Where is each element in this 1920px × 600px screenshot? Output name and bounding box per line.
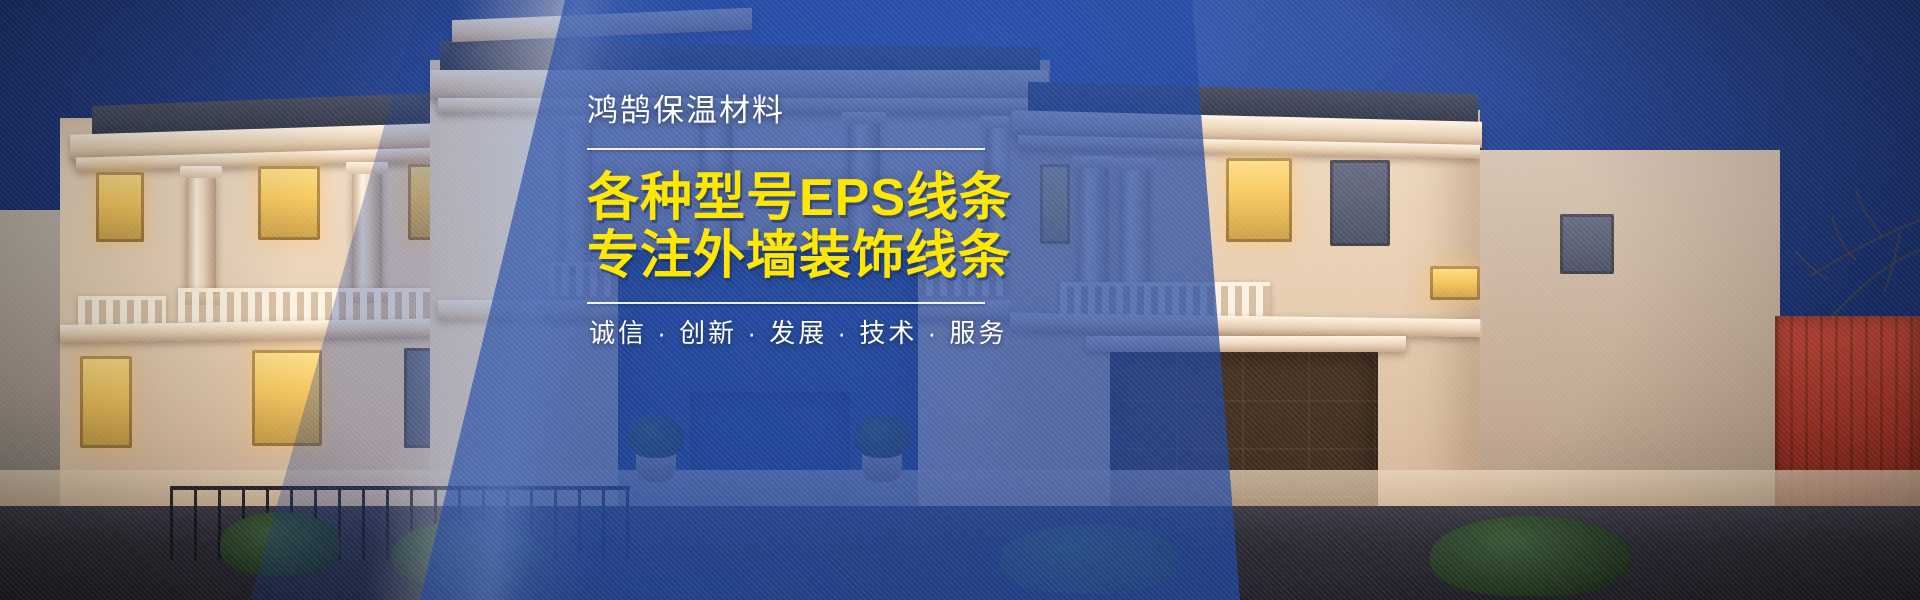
window-lit [258,166,320,240]
promo-banner: 鸿鹄保温材料 各种型号EPS线条 专注外墙装饰线条 诚信 · 创新 · 发展 ·… [0,0,1920,600]
window-lit [252,350,322,446]
shrub [392,520,542,588]
window-lit [80,356,132,448]
divider-top [587,148,985,150]
shrub [1430,516,1630,596]
window-lit [1226,158,1292,242]
column [352,172,382,294]
divider-bottom [587,302,985,304]
headline-line-1: 各种型号EPS线条 [565,170,1225,226]
window-dark [1560,214,1614,274]
banner-text-block: 鸿鹄保温材料 各种型号EPS线条 专注外墙装饰线条 诚信 · 创新 · 发展 ·… [565,95,1225,346]
potted-plant [628,416,684,458]
tagline: 诚信 · 创新 · 发展 · 技术 · 服务 [565,320,1225,346]
window-lit [96,172,144,242]
window-lit [1430,266,1480,300]
window-dark [1330,160,1390,246]
shrub [220,512,340,576]
company-name: 鸿鹄保温材料 [565,95,1225,126]
headline-line-2: 专注外墙装饰线条 [565,228,1225,284]
bare-branches [1660,180,1920,400]
shrub [1000,524,1180,594]
potted-plant [854,416,910,458]
column [186,176,216,296]
